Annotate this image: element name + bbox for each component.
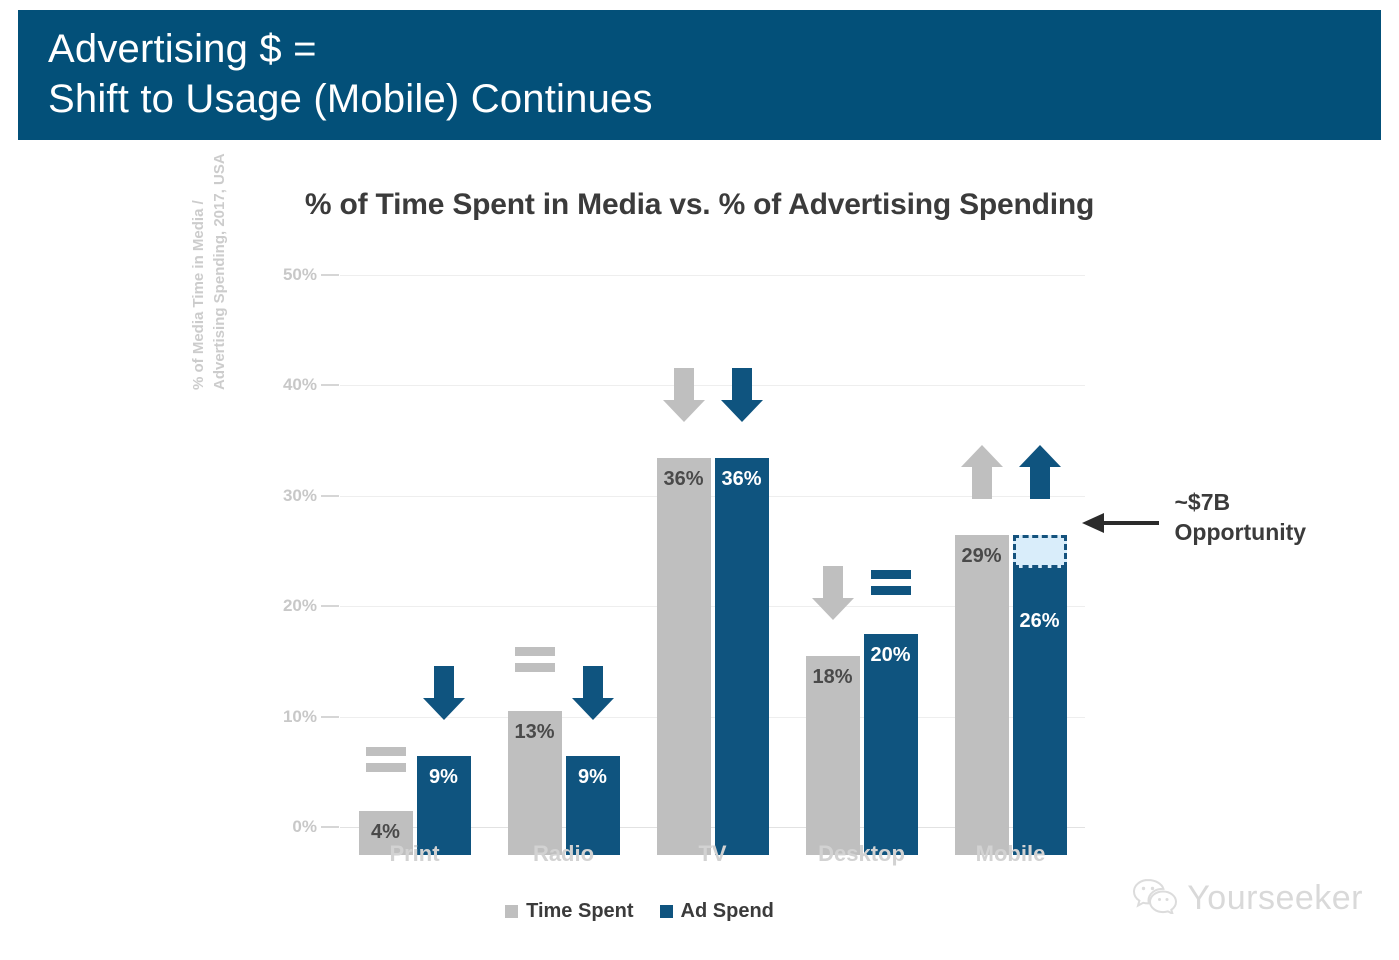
watermark-text: Yourseeker	[1187, 879, 1363, 918]
y-axis-tick-30%: 30%	[257, 486, 317, 506]
x-axis-label-mobile: Mobile	[936, 841, 1085, 867]
bar-value-label-print-ad-spend: 9%	[417, 766, 471, 789]
chart-plot-area: 0%10%20%30%40%50% 4%9%13%9%36%36%18%20%2…	[265, 275, 1095, 855]
banner-title-line-2: Shift to Usage (Mobile) Continues	[48, 74, 1381, 124]
trend-up-icon-mobile-ad-spend	[1018, 443, 1062, 501]
bar-mobile-time-spent[interactable]: 29%	[955, 535, 1009, 855]
y-axis-tick-mark	[321, 605, 339, 607]
slide-header-banner: Advertising $ = Shift to Usage (Mobile) …	[18, 10, 1381, 140]
y-axis-tick-0%: 0%	[257, 817, 317, 837]
bar-radio-time-spent[interactable]: 13%	[508, 711, 562, 855]
trend-flat-icon-radio-time-spent	[513, 643, 557, 677]
bar-value-label-mobile-time-spent: 29%	[955, 545, 1009, 568]
y-axis-tick-50%: 50%	[257, 265, 317, 285]
trend-down-icon-print-ad-spend	[422, 664, 466, 722]
y-axis-tick-mark	[321, 826, 339, 828]
bar-desktop-time-spent[interactable]: 18%	[806, 656, 860, 855]
trend-down-icon-tv-time-spent	[662, 366, 706, 424]
y-axis-tick-mark	[321, 274, 339, 276]
y-axis-tick-mark	[321, 716, 339, 718]
bar-mobile-ad-spend[interactable]: 26%	[1013, 568, 1067, 855]
x-axis-label-print: Print	[340, 841, 489, 867]
trend-down-icon-radio-ad-spend	[571, 664, 615, 722]
trend-up-icon-mobile-time-spent	[960, 443, 1004, 501]
y-axis-tick-40%: 40%	[257, 375, 317, 395]
legend-item-time-spent[interactable]: Time Spent	[505, 900, 633, 923]
trend-down-icon-tv-ad-spend	[720, 366, 764, 424]
opportunity-caption-label: Opportunity	[1175, 517, 1307, 547]
bar-group-desktop: 18%20%	[787, 275, 936, 855]
legend-swatch-icon	[505, 905, 518, 918]
x-axis-label-desktop: Desktop	[787, 841, 936, 867]
banner-title-line-1: Advertising $ =	[48, 24, 1381, 74]
legend-label: Time Spent	[526, 900, 633, 923]
bar-tv-ad-spend[interactable]: 36%	[715, 458, 769, 855]
wechat-icon	[1133, 878, 1177, 919]
slide-root: Advertising $ = Shift to Usage (Mobile) …	[0, 0, 1399, 960]
y-axis-tick-mark	[321, 384, 339, 386]
bar-value-label-desktop-time-spent: 18%	[806, 666, 860, 689]
trend-flat-icon-print-time-spent	[364, 743, 408, 777]
bar-group-print: 4%9%	[340, 275, 489, 855]
bar-value-label-tv-time-spent: 36%	[657, 468, 711, 491]
bar-desktop-ad-spend[interactable]: 20%	[864, 634, 918, 855]
y-axis-tick-10%: 10%	[257, 707, 317, 727]
opportunity-box[interactable]	[1013, 535, 1067, 568]
x-axis-label-tv: TV	[638, 841, 787, 867]
legend-item-ad-spend[interactable]: Ad Spend	[660, 900, 774, 923]
x-axis-label-radio: Radio	[489, 841, 638, 867]
opportunity-leader-arrow-icon	[1081, 512, 1159, 539]
bar-tv-time-spent[interactable]: 36%	[657, 458, 711, 855]
legend-label: Ad Spend	[681, 900, 774, 923]
watermark: Yourseeker	[1133, 878, 1363, 919]
opportunity-annotation: ~$7BOpportunity	[1175, 487, 1307, 547]
y-axis-tick-mark	[321, 495, 339, 497]
trend-down-icon-desktop-time-spent	[811, 564, 855, 622]
legend-swatch-icon	[660, 905, 673, 918]
y-axis-tick-20%: 20%	[257, 596, 317, 616]
bars-area: 4%9%13%9%36%36%18%20%29%26%	[340, 275, 1085, 855]
bar-value-label-tv-ad-spend: 36%	[715, 468, 769, 491]
bar-value-label-radio-time-spent: 13%	[508, 721, 562, 744]
chart-title: % of Time Spent in Media vs. % of Advert…	[0, 188, 1399, 222]
bar-group-tv: 36%36%	[638, 275, 787, 855]
bar-value-label-radio-ad-spend: 9%	[566, 766, 620, 789]
bar-group-radio: 13%9%	[489, 275, 638, 855]
trend-flat-icon-desktop-ad-spend	[869, 566, 913, 600]
bar-value-label-mobile-ad-spend: 26%	[1013, 610, 1067, 633]
bar-value-label-desktop-ad-spend: 20%	[864, 644, 918, 667]
opportunity-amount-label: ~$7B	[1175, 487, 1307, 517]
